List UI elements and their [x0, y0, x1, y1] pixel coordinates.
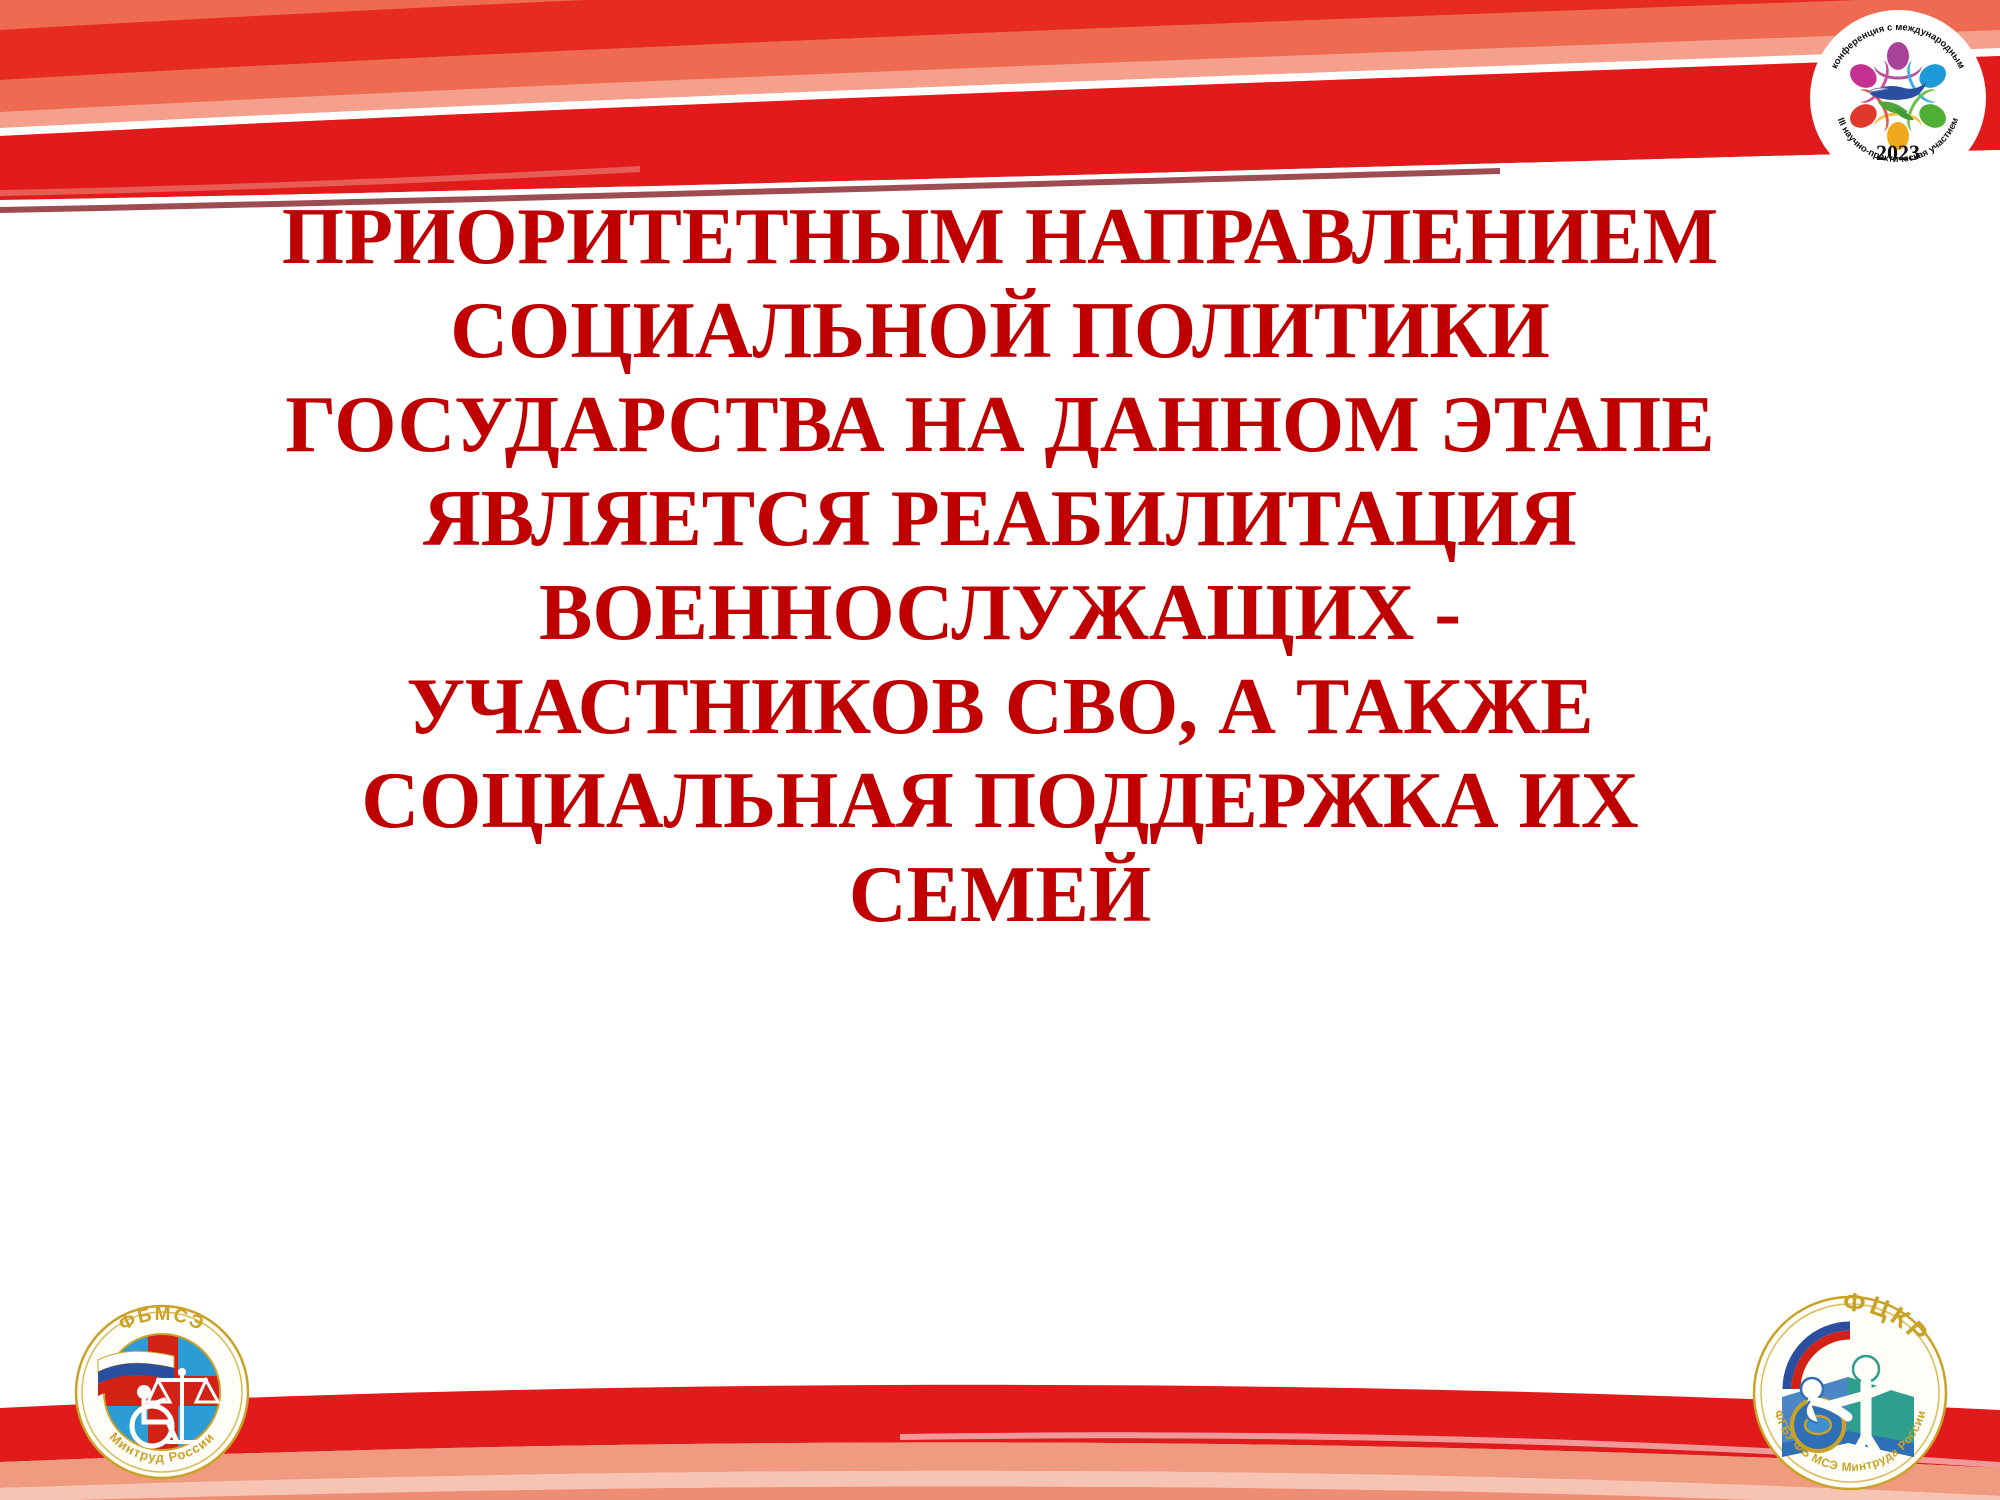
conference-logo: конференция с международным III научно-п… [1808, 8, 1988, 188]
bottom-wave-decoration [0, 1350, 2000, 1500]
title-line-1: ПРИОРИТЕТНЫМ НАПРАВЛЕНИЕМ [60, 190, 1940, 284]
fcr-logo: ФЦКР ФГБУ ФБ МСЭ Минтруда России [1730, 1285, 1980, 1500]
fbmse-logo: ФБМСЭ Минтруд России [52, 1280, 272, 1500]
conference-emblem-icon: конференция с международным III научно-п… [1808, 8, 1988, 188]
title-line-6: УЧАСТНИКОВ СВО, А ТАКЖЕ [60, 660, 1940, 754]
title-line-2: СОЦИАЛЬНОЙ ПОЛИТИКИ [60, 284, 1940, 378]
slide-canvas: конференция с международным III научно-п… [0, 0, 2000, 1500]
conference-year: 2023 [1876, 140, 1920, 165]
page-title: ПРИОРИТЕТНЫМ НАПРАВЛЕНИЕМ СОЦИАЛЬНОЙ ПОЛ… [60, 190, 1940, 942]
title-line-5: ВОЕННОСЛУЖАЩИХ - [60, 566, 1940, 660]
title-line-7: СОЦИАЛЬНАЯ ПОДДЕРЖКА ИХ [60, 754, 1940, 848]
title-line-4: ЯВЛЯЕТСЯ РЕАБИЛИТАЦИЯ [60, 472, 1940, 566]
fbmse-emblem-icon: ФБМСЭ Минтруд России [52, 1280, 272, 1500]
fcr-emblem-icon: ФЦКР ФГБУ ФБ МСЭ Минтруда России [1730, 1285, 1980, 1500]
title-line-3: ГОСУДАРСТВА НА ДАННОМ ЭТАПЕ [60, 378, 1940, 472]
title-line-8: СЕМЕЙ [60, 848, 1940, 942]
